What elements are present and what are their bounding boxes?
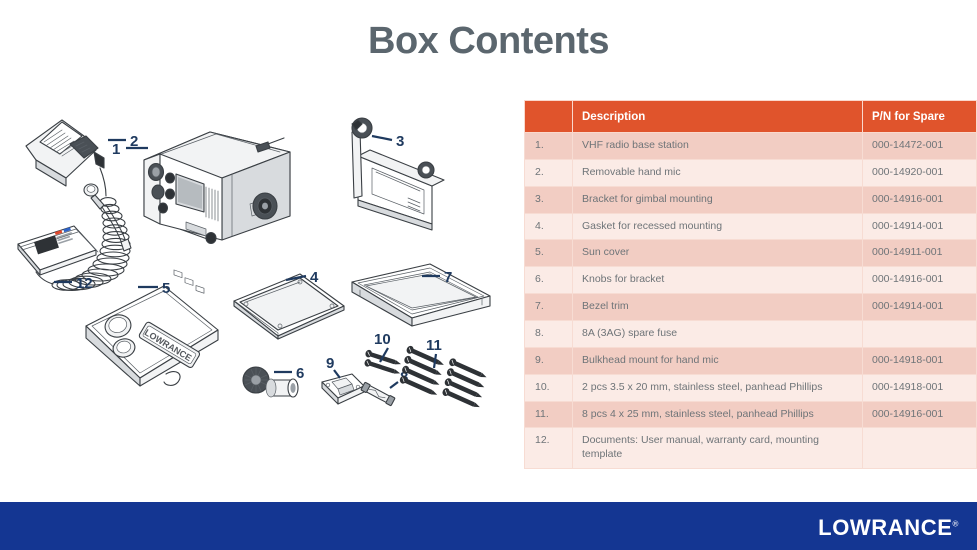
row-description: Documents: User manual, warranty card, m… — [573, 428, 863, 469]
row-index: 7. — [525, 294, 573, 321]
table-header-row: Description P/N for Spare — [525, 101, 977, 133]
row-part-number: 000-14916-001 — [863, 267, 977, 294]
part-vhf-radio-base-station: 1 — [112, 132, 290, 293]
box-contents-table: Description P/N for Spare 1. VHF radio b… — [524, 100, 977, 469]
part-spare-fuse: 8 — [361, 369, 408, 406]
row-part-number: 000-14914-001 — [863, 213, 977, 240]
callout-9: 9 — [326, 355, 334, 372]
row-part-number: 000-14911-001 — [863, 240, 977, 267]
callout-4: 4 — [310, 269, 319, 286]
row-part-number: 000-14916-001 — [863, 186, 977, 213]
table-row: 7. Bezel trim 000-14914-001 — [525, 294, 977, 321]
part-screws-3-5x20: 10 — [362, 331, 404, 377]
page-title: Box Contents — [0, 20, 977, 63]
row-index: 5. — [525, 240, 573, 267]
row-description: Knobs for bracket — [573, 267, 863, 294]
row-index: 8. — [525, 321, 573, 348]
row-description: Bulkhead mount for hand mic — [573, 347, 863, 374]
row-index: 6. — [525, 267, 573, 294]
callout-1: 1 — [112, 141, 120, 158]
row-description: Removable hand mic — [573, 159, 863, 186]
table-row: 11. 8 pcs 4 x 25 mm, stainless steel, pa… — [525, 401, 977, 428]
table-body: 1. VHF radio base station 000-14472-001 … — [525, 133, 977, 469]
table-row: 9. Bulkhead mount for hand mic 000-14918… — [525, 347, 977, 374]
row-index: 9. — [525, 347, 573, 374]
lowrance-logo: LOWRANCE® — [818, 515, 959, 541]
table-row: 10. 2 pcs 3.5 x 20 mm, stainless steel, … — [525, 374, 977, 401]
table-row: 12. Documents: User manual, warranty car… — [525, 428, 977, 469]
row-part-number: 000-14472-001 — [863, 133, 977, 160]
part-gimbal-bracket: 3 — [352, 118, 444, 230]
column-header-index — [525, 101, 573, 133]
row-part-number: 000-14920-001 — [863, 159, 977, 186]
table-row: 6. Knobs for bracket 000-14916-001 — [525, 267, 977, 294]
row-description: 8 pcs 4 x 25 mm, stainless steel, panhea… — [573, 401, 863, 428]
row-description: VHF radio base station — [573, 133, 863, 160]
table-row: 1. VHF radio base station 000-14472-001 — [525, 133, 977, 160]
table-row: 4. Gasket for recessed mounting 000-1491… — [525, 213, 977, 240]
row-index: 10. — [525, 374, 573, 401]
callout-10: 10 — [374, 331, 391, 348]
row-part-number: 000-14916-001 — [863, 401, 977, 428]
row-index: 4. — [525, 213, 573, 240]
part-bulkhead-mic-mount: 9 — [322, 355, 364, 404]
row-description: Gasket for recessed mounting — [573, 213, 863, 240]
callout-6: 6 — [296, 365, 304, 382]
row-part-number: 000-14914-001 — [863, 294, 977, 321]
row-part-number: 000-14918-001 — [863, 347, 977, 374]
row-index: 3. — [525, 186, 573, 213]
callout-7: 7 — [444, 269, 452, 286]
row-part-number — [863, 428, 977, 469]
part-sun-cover: LOWRANCE 5 — [86, 280, 218, 386]
row-description: Bezel trim — [573, 294, 863, 321]
row-index: 2. — [525, 159, 573, 186]
row-index: 12. — [525, 428, 573, 469]
row-description: Bracket for gimbal mounting — [573, 186, 863, 213]
column-header-description: Description — [573, 101, 863, 133]
row-index: 1. — [525, 133, 573, 160]
row-part-number: 000-14918-001 — [863, 374, 977, 401]
lowrance-logo-text: LOWRANCE — [818, 515, 952, 540]
part-bezel-trim: 7 — [352, 264, 490, 326]
part-bracket-knobs: 6 — [243, 365, 304, 397]
table-row: 3. Bracket for gimbal mounting 000-14916… — [525, 186, 977, 213]
row-description: Sun cover — [573, 240, 863, 267]
table-row: 2. Removable hand mic 000-14920-001 — [525, 159, 977, 186]
callout-3: 3 — [396, 133, 404, 150]
table-row: 5. Sun cover 000-14911-001 — [525, 240, 977, 267]
box-contents-illustration: 2 12 — [0, 86, 510, 456]
row-part-number — [863, 321, 977, 348]
footer-bar: LOWRANCE® — [0, 502, 977, 550]
part-documents: 12 — [18, 226, 98, 292]
table-row: 8. 8A (3AG) spare fuse — [525, 321, 977, 348]
row-description: 2 pcs 3.5 x 20 mm, stainless steel, panh… — [573, 374, 863, 401]
row-index: 11. — [525, 401, 573, 428]
callout-12: 12 — [76, 275, 93, 292]
column-header-part-number: P/N for Spare — [863, 101, 977, 133]
row-description: 8A (3AG) spare fuse — [573, 321, 863, 348]
callout-11: 11 — [426, 337, 442, 354]
callout-5: 5 — [162, 280, 170, 297]
table-header: Description P/N for Spare — [525, 101, 977, 133]
part-recessed-mount-gasket: 4 — [234, 269, 344, 339]
trademark-mark: ® — [953, 520, 960, 529]
